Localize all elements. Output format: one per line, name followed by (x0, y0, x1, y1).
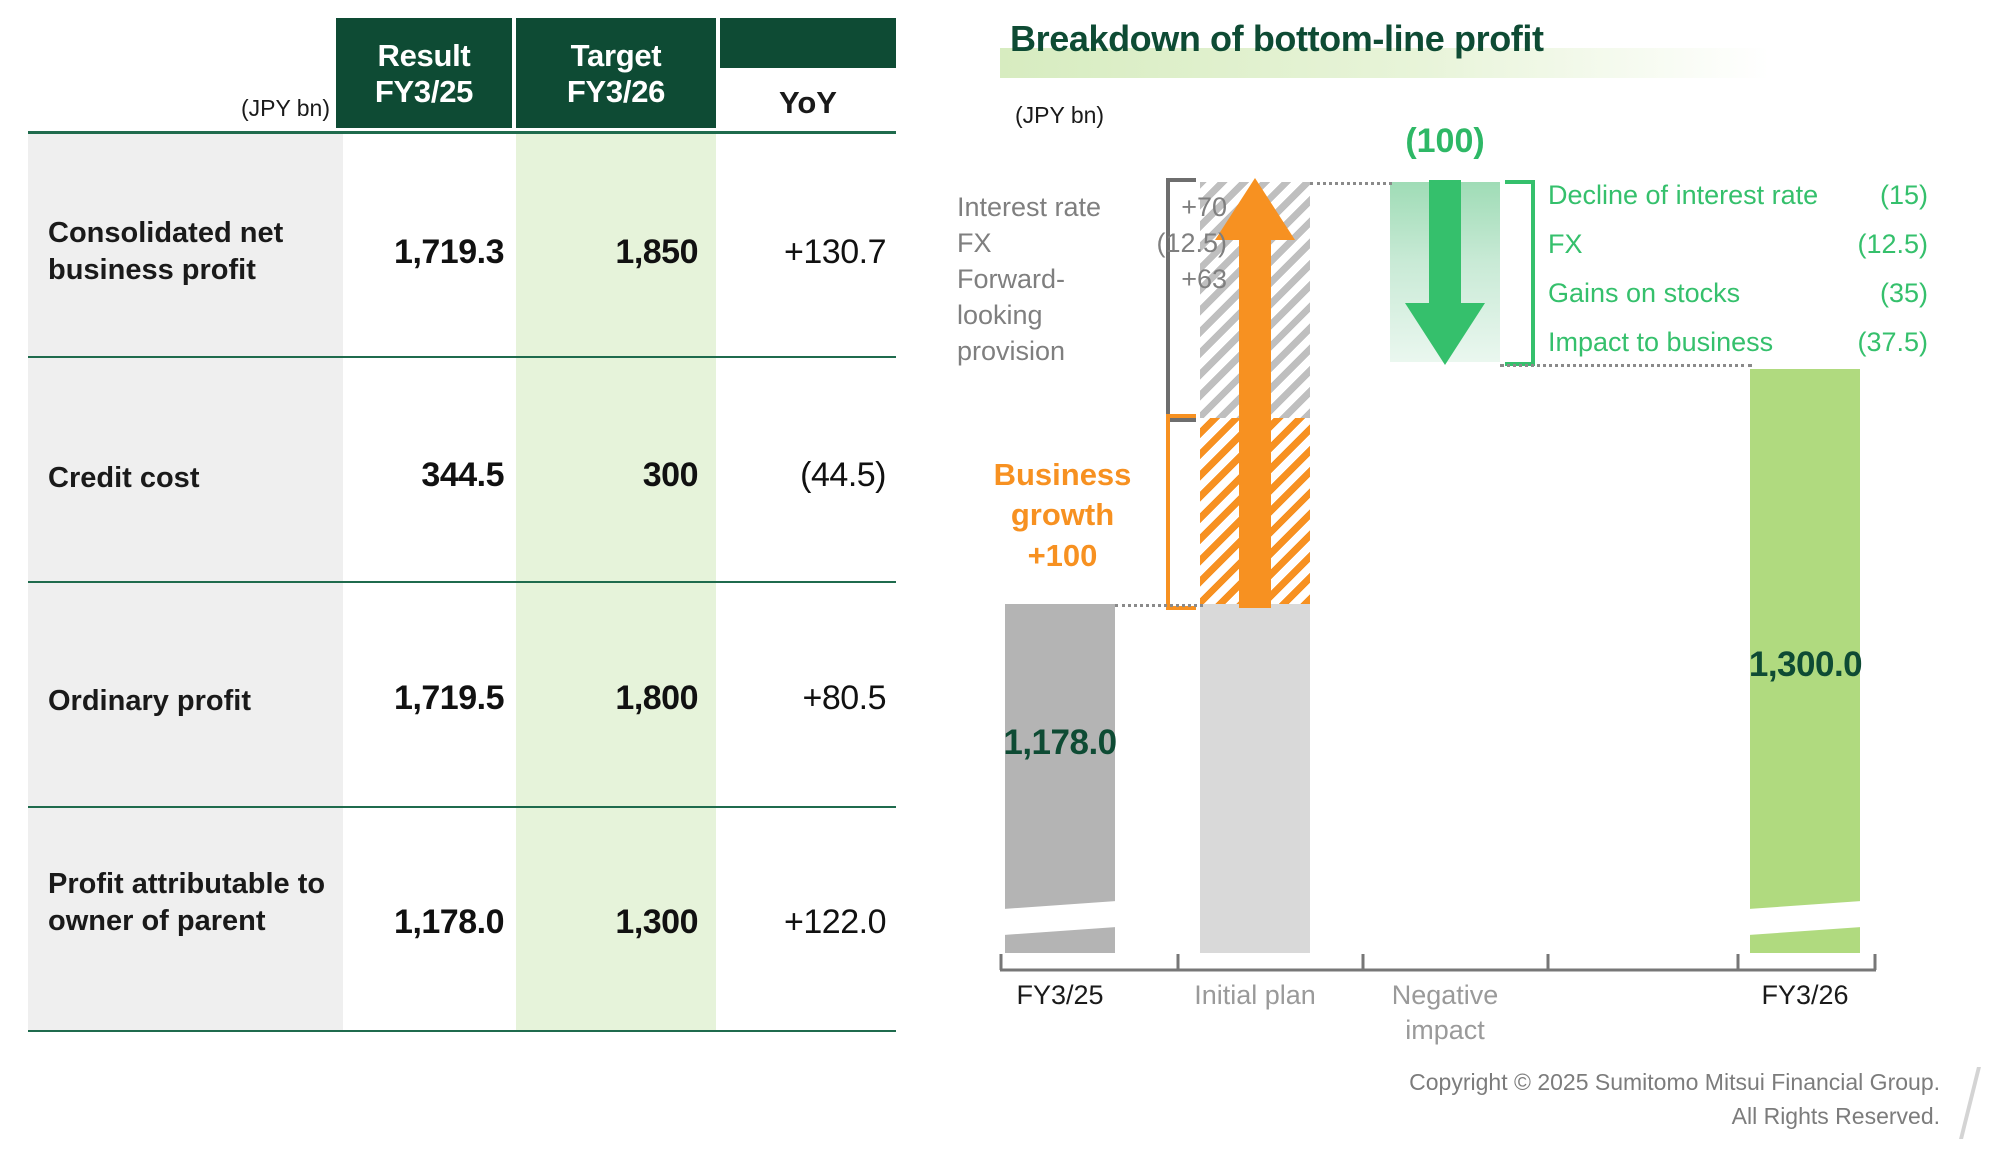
annotation-row: FX (12.5) (1548, 227, 1968, 276)
bar-break-marker (1005, 901, 1115, 935)
annotation-row: Impact to business (37.5) (1548, 325, 1968, 374)
initial-plan-annotations: Interest rate +70 FX (12.5) Forward- +63 (957, 190, 1237, 298)
bar-break-marker (1750, 901, 1860, 935)
annotation-row: Interest rate +70 (957, 190, 1237, 226)
annotation-row: Gains on stocks (35) (1548, 276, 1968, 325)
row-target-value: 1,300 (516, 903, 698, 942)
row-label: Ordinary profit (48, 683, 338, 720)
bar-fy25[interactable] (1005, 604, 1115, 953)
annotation-label: FX (1548, 227, 1838, 263)
row-label: Credit cost (48, 460, 338, 497)
annotation-value: (12.5) (1107, 226, 1227, 262)
row-result-value: 1,719.5 (336, 679, 504, 718)
header-band-yoy (720, 18, 896, 68)
table-rule-top (28, 131, 896, 134)
bar-value-fy25: 1,178.0 (985, 723, 1135, 763)
table-unit-label: (JPY bn) (150, 95, 330, 122)
waterfall-chart-panel: Breakdown of bottom-line profit (JPY bn) (960, 0, 2000, 1175)
bar-initial-plan[interactable] (1200, 604, 1310, 953)
connector-fy25-to-plan (1115, 604, 1203, 607)
annotation-row: Decline of interest rate (15) (1548, 178, 1968, 227)
column-header-result-line1: Result (336, 38, 512, 74)
chart-plot-area: (100) Interest rate +70 (960, 0, 2000, 1060)
annotation-value: (35) (1808, 276, 1928, 312)
bar-value-fy26: 1,300.0 (1728, 645, 1883, 685)
row-target-value: 300 (516, 456, 698, 495)
copyright-line-1: Copyright © 2025 Sumitomo Mitsui Financi… (1380, 1066, 1940, 1099)
connector-plan-top (1310, 182, 1392, 185)
column-header-target: Target FY3/26 (516, 38, 716, 110)
axis-label-fy25: FY3/25 (990, 978, 1130, 1013)
row-result-value: 344.5 (336, 456, 504, 495)
annotation-value: (37.5) (1808, 325, 1928, 361)
table-rule-1 (28, 356, 896, 358)
bracket-orange-icon (1156, 414, 1198, 610)
financial-summary-table: Result FY3/25 Target FY3/26 YoY (JPY bn)… (0, 0, 920, 1060)
column-header-yoy: YoY (720, 85, 896, 121)
annotation-value: +70 (1107, 190, 1227, 226)
annotation-value: +63 (1107, 262, 1227, 298)
copyright-line-2: All Rights Reserved. (1380, 1100, 1940, 1133)
bracket-green-icon (1503, 180, 1545, 366)
axis-label-initial-plan: Initial plan (1185, 978, 1325, 1013)
annotation-label: Gains on stocks (1548, 276, 1838, 312)
column-header-result-line2: FY3/25 (336, 74, 512, 110)
row-target-value: 1,850 (516, 233, 698, 272)
copyright-footer: Copyright © 2025 Sumitomo Mitsui Financi… (1380, 1066, 1940, 1133)
row-yoy-value: +130.7 (718, 233, 886, 272)
table-rule-bottom (28, 1030, 896, 1032)
column-header-target-line1: Target (516, 38, 716, 74)
annotation-value: (15) (1808, 178, 1928, 214)
chart-x-axis (998, 950, 1878, 972)
column-header-result: Result FY3/25 (336, 38, 512, 110)
table-rule-3 (28, 806, 896, 808)
row-label: Profit attributable to owner of parent (48, 866, 338, 940)
axis-label-fy26: FY3/26 (1735, 978, 1875, 1013)
column-header-target-line2: FY3/26 (516, 74, 716, 110)
business-growth-label: Business growth +100 (980, 455, 1145, 576)
negative-impact-total-label: (100) (1355, 122, 1535, 161)
row-result-value: 1,178.0 (336, 903, 504, 942)
annotation-row: Forward- +63 (957, 262, 1237, 298)
slide-root: Result FY3/25 Target FY3/26 YoY (JPY bn)… (0, 0, 2000, 1175)
row-yoy-value: +122.0 (718, 903, 886, 942)
annotation-label: Impact to business (1548, 325, 1838, 361)
row-result-value: 1,719.3 (336, 233, 504, 272)
annotation-label: Decline of interest rate (1548, 178, 1838, 214)
row-label: Consolidated net business profit (48, 215, 338, 289)
row-target-value: 1,800 (516, 679, 698, 718)
annotation-value: (12.5) (1808, 227, 1928, 263)
annotation-label-continuation: looking provision (957, 298, 1117, 370)
down-arrow-icon (1405, 180, 1485, 365)
negative-impact-annotations: Decline of interest rate (15) FX (12.5) … (1548, 178, 1968, 374)
annotation-row: FX (12.5) (957, 226, 1237, 262)
row-yoy-value: (44.5) (718, 456, 886, 495)
axis-label-negative-impact: Negative impact (1360, 978, 1530, 1048)
row-yoy-value: +80.5 (718, 679, 886, 718)
table-rule-2 (28, 581, 896, 583)
